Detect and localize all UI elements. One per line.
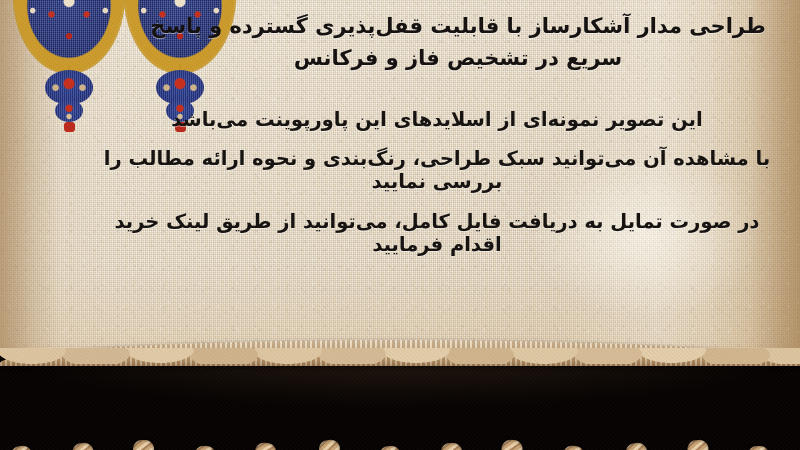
fringe-tassel xyxy=(681,439,715,441)
fringe-knot xyxy=(72,442,95,450)
medallion-pendant-small-icon xyxy=(55,100,83,122)
fringe-knot xyxy=(193,445,216,450)
fringe-tassel xyxy=(66,442,100,444)
body-line-sample-notice: این تصویر نمونه‌ای از اسلایدهای این پاور… xyxy=(92,108,782,131)
fringe-knot xyxy=(687,439,710,450)
fringe-tassel xyxy=(558,444,592,448)
fringe-knot xyxy=(253,442,277,450)
slide-canvas: طراحی مدار آشکارساز با قابلیت قفل‌پذیری … xyxy=(0,0,800,450)
fringe-knot xyxy=(133,440,154,450)
medallion-pendant-large-icon xyxy=(156,70,204,104)
body-line-review-notice: با مشاهده آن می‌توانید سبک طراحی، رنگ‌بن… xyxy=(92,147,782,193)
fringe-tassel xyxy=(189,445,223,447)
carpet-fringe xyxy=(0,358,800,450)
fringe-knot xyxy=(501,439,524,450)
body-line-purchase-notice: در صورت تمایل به دریافت فایل کامل، می‌تو… xyxy=(92,210,782,256)
fringe-knot xyxy=(561,445,585,450)
fringe-tassel xyxy=(312,438,346,442)
persian-carpet-medallion-left-ornament xyxy=(14,0,124,94)
fringe-tassel xyxy=(4,444,38,448)
fringe-knot xyxy=(379,445,402,450)
fringe-tassel xyxy=(619,441,653,445)
fringe-tassel xyxy=(496,439,530,441)
fringe-knot xyxy=(10,445,34,450)
fringe-knot xyxy=(318,439,342,450)
medallion-pendant-tip-icon xyxy=(64,122,75,132)
fringe-tassel xyxy=(373,445,407,447)
medallion-head-icon xyxy=(14,0,124,72)
slide-title-line-1: طراحی مدار آشکارساز با قابلیت قفل‌پذیری … xyxy=(138,10,778,42)
fringe-knot xyxy=(748,446,769,450)
fringe-knot xyxy=(625,442,649,450)
fringe-knot xyxy=(441,443,462,450)
medallion-pendant-large-icon xyxy=(45,70,93,104)
slide-title: طراحی مدار آشکارساز با قابلیت قفل‌پذیری … xyxy=(138,10,778,74)
fringe-tassel xyxy=(250,441,284,445)
slide-title-line-2: سریع در تشخیص فاز و فرکانس xyxy=(138,42,778,74)
slide-body-text: این تصویر نمونه‌ای از اسلایدهای این پاور… xyxy=(92,108,782,256)
